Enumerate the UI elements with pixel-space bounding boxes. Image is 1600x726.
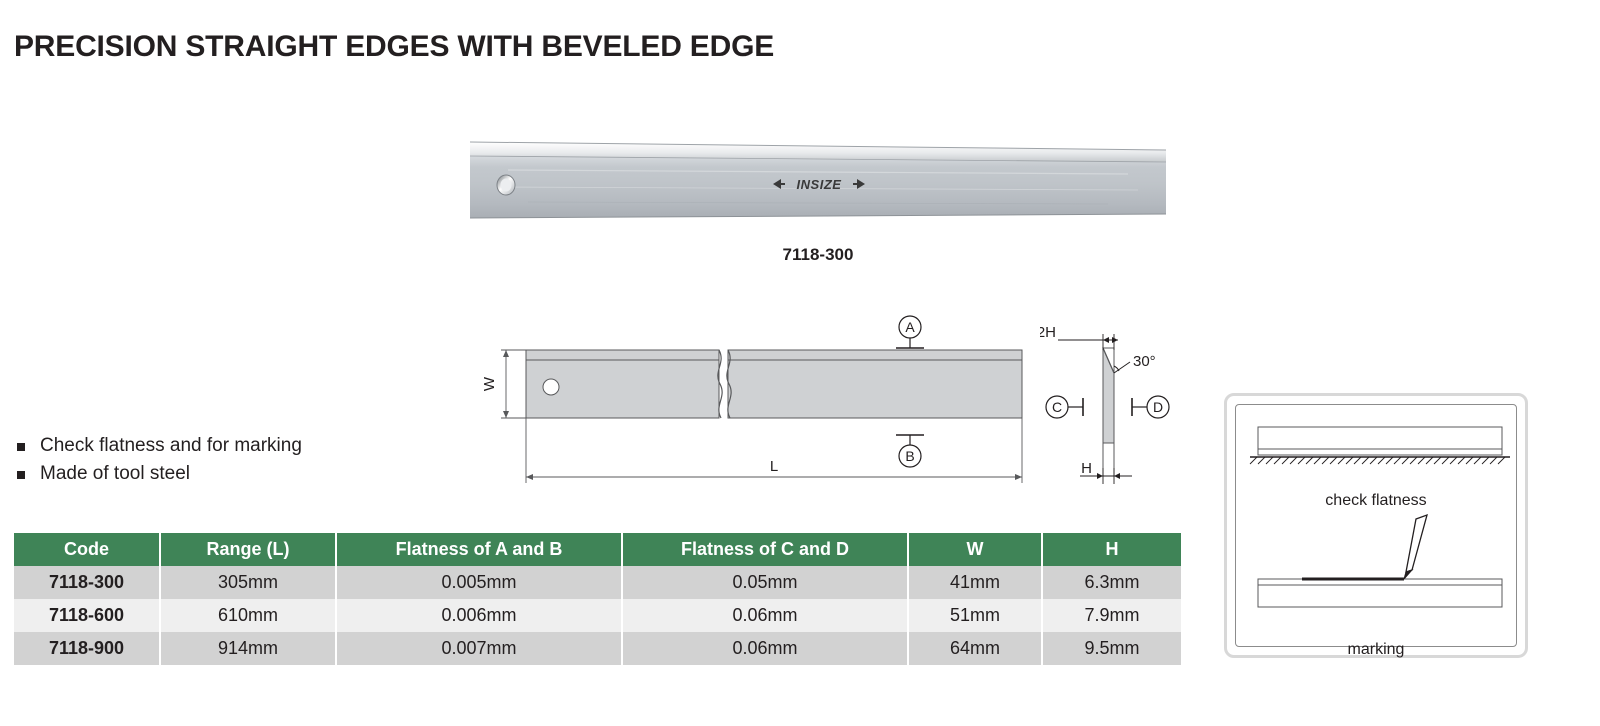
- column-header-flatness-ab: Flatness of A and B: [336, 533, 622, 566]
- svg-text:B: B: [905, 448, 914, 464]
- cell-flatness-ab: 0.006mm: [336, 599, 622, 632]
- svg-text:INSIZE: INSIZE: [797, 177, 842, 192]
- application-illustration-box: check flatness marking: [1224, 393, 1528, 658]
- svg-text:D: D: [1153, 399, 1163, 415]
- cell-flatness-ab: 0.007mm: [336, 632, 622, 665]
- cell-range: 914mm: [160, 632, 336, 665]
- table-row: 7118-900 914mm 0.007mm 0.06mm 64mm 9.5mm: [14, 632, 1181, 665]
- cell-w: 51mm: [908, 599, 1042, 632]
- feature-list: Check flatness and for marking Made of t…: [14, 432, 302, 488]
- table-header-row: Code Range (L) Flatness of A and B Flatn…: [14, 533, 1181, 566]
- column-header-flatness-cd: Flatness of C and D: [622, 533, 908, 566]
- datum-c-symbol: C: [1046, 396, 1083, 418]
- cell-range: 305mm: [160, 566, 336, 599]
- cell-flatness-cd: 0.06mm: [622, 632, 908, 665]
- cell-code: 7118-900: [14, 632, 160, 665]
- cell-w: 41mm: [908, 566, 1042, 599]
- cell-flatness-cd: 0.05mm: [622, 566, 908, 599]
- column-header-range: Range (L): [160, 533, 336, 566]
- bevel-angle-label: 30°: [1133, 353, 1156, 370]
- cell-code: 7118-300: [14, 566, 160, 599]
- cell-range: 610mm: [160, 599, 336, 632]
- column-header-w: W: [908, 533, 1042, 566]
- svg-text:A: A: [905, 319, 915, 335]
- cell-h: 9.5mm: [1042, 632, 1181, 665]
- page-title: PRECISION STRAIGHT EDGES WITH BEVELED ED…: [14, 30, 774, 64]
- cell-w: 64mm: [908, 632, 1042, 665]
- check-flatness-caption: check flatness: [1236, 492, 1516, 510]
- main-drawing: W L A B: [470, 305, 1030, 495]
- cell-code: 7118-600: [14, 599, 160, 632]
- marking-diagram: [1258, 515, 1502, 607]
- svg-text:C: C: [1052, 399, 1062, 415]
- specification-table: Code Range (L) Flatness of A and B Flatn…: [14, 533, 1181, 665]
- cell-h: 6.3mm: [1042, 566, 1181, 599]
- cell-flatness-cd: 0.06mm: [622, 599, 908, 632]
- table-row: 7118-600 610mm 0.006mm 0.06mm 51mm 7.9mm: [14, 599, 1181, 632]
- product-caption: 7118-300: [468, 245, 1168, 265]
- length-dimension-label: L: [770, 458, 778, 475]
- application-inner-frame: check flatness marking: [1235, 404, 1517, 647]
- product-photo: INSIZE: [468, 140, 1168, 225]
- datum-b-symbol: B: [896, 435, 924, 467]
- column-header-h: H: [1042, 533, 1181, 566]
- table-row: 7118-300 305mm 0.005mm 0.05mm 41mm 6.3mm: [14, 566, 1181, 599]
- cross-section-drawing: 1/2H 30° C D H: [1040, 318, 1210, 493]
- half-height-label: 1/2H: [1040, 324, 1056, 341]
- column-header-code: Code: [14, 533, 160, 566]
- cell-flatness-ab: 0.005mm: [336, 566, 622, 599]
- feature-item: Check flatness and for marking: [14, 432, 302, 460]
- check-flatness-diagram: [1250, 427, 1510, 464]
- datum-d-symbol: D: [1132, 396, 1169, 418]
- height-label: H: [1081, 460, 1092, 477]
- datum-a-symbol: A: [896, 316, 924, 348]
- cell-h: 7.9mm: [1042, 599, 1181, 632]
- width-dimension-label: W: [481, 376, 498, 391]
- marking-caption: marking: [1236, 641, 1516, 659]
- feature-item: Made of tool steel: [14, 460, 302, 488]
